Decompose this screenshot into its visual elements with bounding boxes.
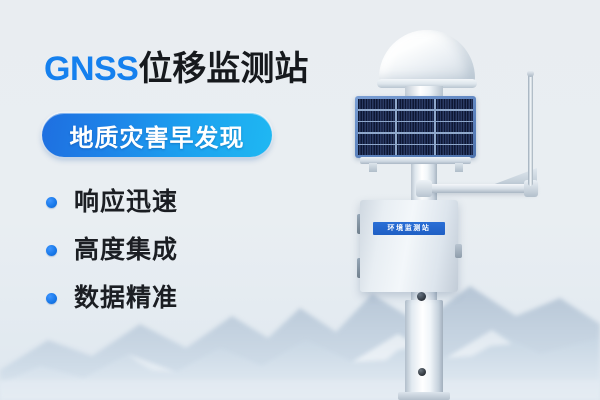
enclosure-latch-right — [455, 244, 462, 258]
pole-bolt-upper — [417, 292, 426, 301]
feature-item: 高度集成 — [46, 226, 178, 274]
page-title-brand: GNSS — [44, 50, 138, 88]
feature-item-label: 数据精准 — [74, 286, 178, 311]
pole-bolt-lower — [418, 368, 426, 376]
feature-item: 响应迅速 — [46, 178, 178, 226]
enclosure-box — [360, 200, 458, 292]
enclosure-label: 环境监测站 — [373, 222, 445, 235]
feature-item-label: 响应迅速 — [74, 190, 178, 215]
pole-foot — [398, 392, 450, 400]
bullet-dot-icon — [46, 293, 57, 304]
page-title-rest: 位移监测站 — [138, 50, 308, 88]
tagline-badge: 地质灾害早发现 — [42, 113, 272, 157]
feature-list: 响应迅速 高度集成 数据精准 — [46, 178, 178, 322]
feature-item: 数据精准 — [46, 274, 178, 322]
tagline-badge-text: 地质灾害早发现 — [70, 118, 245, 153]
whip-antenna-tip — [527, 70, 534, 77]
solar-panel — [355, 96, 476, 158]
whip-antenna — [528, 74, 533, 186]
solar-panel-leg-right — [455, 163, 463, 172]
gnss-product-banner: 环境监测站 GNSS位移监测站 地质灾害早发现 响应迅速 高度集成 数据精准 — [0, 0, 600, 400]
solar-panel-leg-left — [369, 163, 377, 172]
page-title: GNSS位移监测站 — [44, 52, 308, 86]
gnss-antenna-dome — [379, 30, 475, 84]
feature-item-label: 高度集成 — [74, 238, 178, 263]
solar-panel-cell-grid — [358, 99, 473, 155]
bullet-dot-icon — [46, 245, 57, 256]
bullet-dot-icon — [46, 197, 57, 208]
cross-arm-clamp — [416, 180, 432, 197]
mounting-pole-base — [405, 300, 443, 400]
enclosure-label-text: 环境监测站 — [388, 225, 431, 232]
antenna-cross-arm — [428, 184, 536, 193]
